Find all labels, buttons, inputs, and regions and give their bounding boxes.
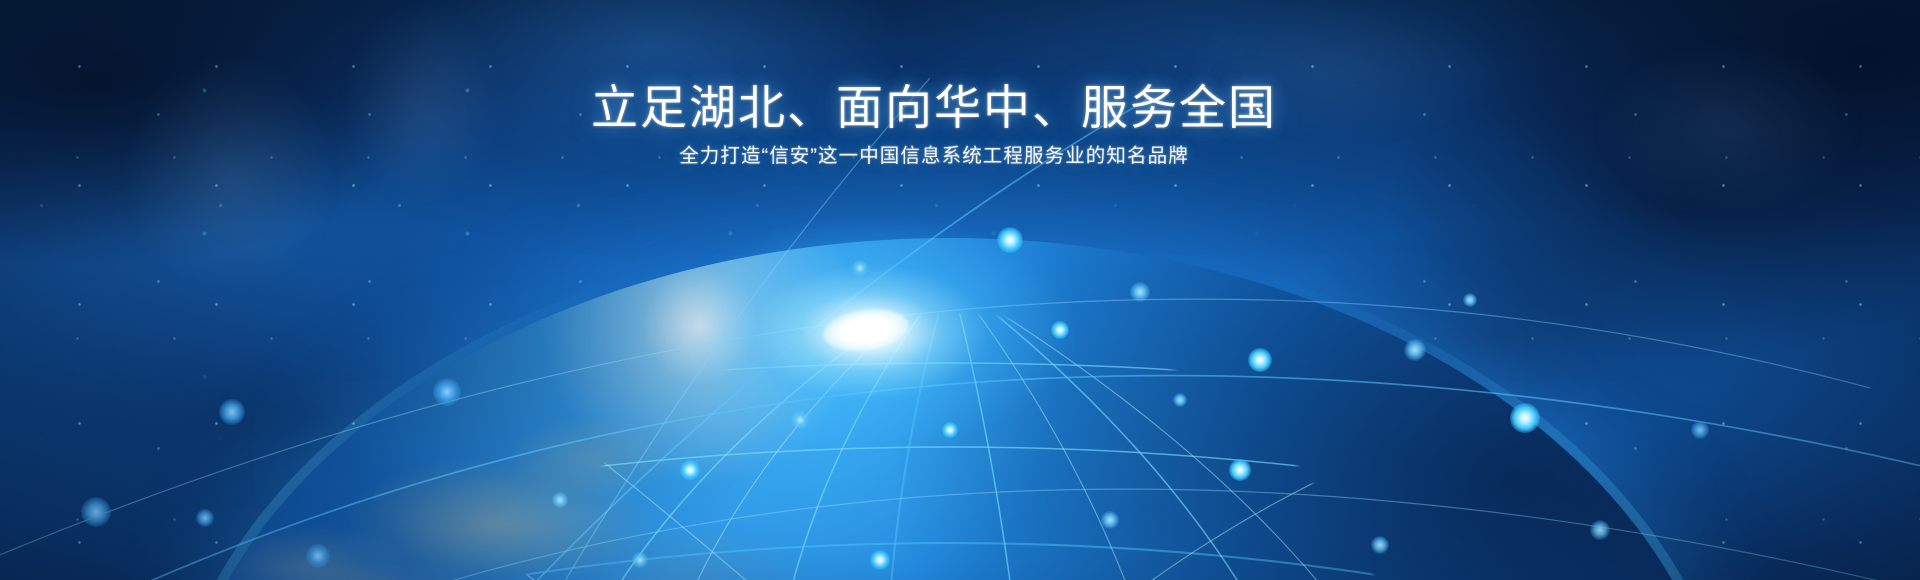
network-node [1404, 339, 1426, 361]
network-node [852, 260, 868, 276]
network-node [1101, 511, 1119, 529]
network-node [1173, 393, 1187, 407]
network-node [1510, 403, 1540, 433]
network-node [81, 497, 111, 527]
globe-wireframe-mesh [170, 238, 1730, 580]
globe-shading [170, 238, 1730, 580]
network-node [1463, 293, 1477, 307]
banner-text-block: 立足湖北、面向华中、服务全国 全力打造“信安”这一中国信息系统工程服务业的知名品… [0, 84, 1920, 167]
network-node [1229, 459, 1251, 481]
globe-atmosphere-glow [160, 228, 1740, 580]
network-node [306, 544, 330, 568]
digital-globe [170, 238, 1730, 580]
network-node [870, 550, 890, 570]
network-node [552, 492, 568, 508]
banner-title: 立足湖北、面向华中、服务全国 [0, 84, 1894, 131]
network-node [1590, 520, 1610, 540]
network-node [997, 227, 1023, 253]
hero-banner: 立足湖北、面向华中、服务全国 全力打造“信安”这一中国信息系统工程服务业的知名品… [0, 0, 1920, 580]
network-node [791, 411, 809, 429]
network-node [632, 552, 648, 568]
globe-sphere [170, 238, 1730, 580]
network-node [433, 378, 461, 406]
orbital-arcs [170, 238, 1730, 580]
banner-subtitle: 全力打造“信安”这一中国信息系统工程服务业的知名品牌 [0, 147, 1894, 167]
network-node [219, 399, 245, 425]
network-node [680, 460, 700, 480]
network-node [1248, 348, 1272, 372]
light-burst-core [821, 304, 912, 356]
network-node [942, 422, 958, 438]
network-node [1051, 321, 1069, 339]
network-node [196, 509, 214, 527]
network-node [1371, 536, 1389, 554]
globe-landmass [170, 238, 1730, 580]
network-node [1130, 282, 1150, 302]
network-node [1691, 421, 1709, 439]
